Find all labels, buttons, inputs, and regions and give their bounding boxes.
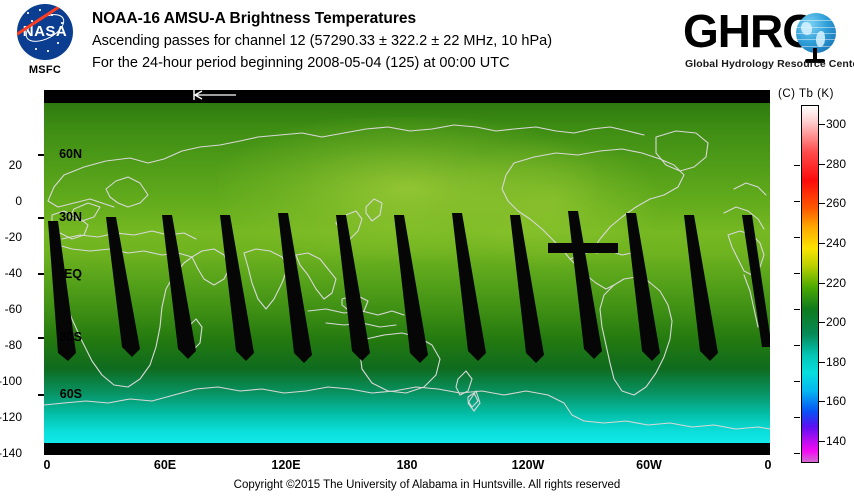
cb-c--80: -80 (5, 338, 22, 352)
cb-k-280: 280 (826, 157, 846, 171)
ghrc-tagline: Global Hydrology Resource Center (685, 58, 854, 70)
cb-k-300: 300 (826, 117, 846, 131)
map-plot-area (44, 90, 770, 455)
colorbar-gradient (801, 105, 819, 463)
cb-k-260: 260 (826, 196, 846, 210)
nasa-meatball-icon: NASA (17, 4, 73, 60)
cb-c--100: -100 (0, 374, 22, 388)
subtitle-period: For the 24-hour period beginning 2008-05… (92, 52, 672, 74)
cb-c--40: -40 (5, 266, 22, 280)
cb-c--140: -140 (0, 446, 22, 460)
globe-icon (796, 13, 836, 53)
cb-k-240: 240 (826, 236, 846, 250)
xtick-180: 180 (397, 458, 418, 472)
ytick-60N: 60N (59, 147, 82, 161)
page-title: NOAA-16 AMSU-A Brightness Temperatures (92, 8, 672, 30)
orbital-swath-gaps (44, 103, 770, 443)
cb-c--60: -60 (5, 302, 22, 316)
pass-direction-arrow (190, 89, 238, 101)
ytick-30N: 30N (59, 210, 82, 224)
nasa-logo: NASA MSFC (8, 4, 82, 82)
cb-k-220: 220 (826, 276, 846, 290)
cb-c-0: 0 (15, 194, 22, 208)
cb-c-20: 20 (9, 158, 22, 172)
ghrc-wordmark: GHRC (683, 8, 814, 54)
xtick-120E: 120E (271, 458, 300, 472)
ytick-60S: 60S (60, 387, 82, 401)
xtick-120W: 120W (512, 458, 545, 472)
msfc-label: MSFC (8, 64, 82, 76)
xtick-60W: 60W (636, 458, 662, 472)
xtick-0E: 0 (44, 458, 51, 472)
copyright-notice: Copyright ©2015 The University of Alabam… (0, 479, 854, 491)
colorbar-header: (C) Tb (K) (778, 88, 834, 100)
subtitle-channel: Ascending passes for channel 12 (57290.3… (92, 30, 672, 52)
xtick-60E: 60E (154, 458, 176, 472)
ytick-30S: 30S (60, 330, 82, 344)
xtick-0W: 0 (765, 458, 772, 472)
cb-c--120: -120 (0, 410, 22, 424)
cb-k-180: 180 (826, 355, 846, 369)
cb-k-140: 140 (826, 434, 846, 448)
ghrc-logo: GHRC Global Hydrology Resource Center (683, 8, 843, 74)
cb-k-160: 160 (826, 394, 846, 408)
cb-c--20: -20 (5, 230, 22, 244)
title-block: NOAA-16 AMSU-A Brightness Temperatures A… (92, 8, 672, 74)
map-canvas (44, 103, 770, 443)
ytick-EQ: EQ (64, 267, 82, 281)
map-frame (44, 90, 770, 455)
cb-k-200: 200 (826, 315, 846, 329)
page-header: NASA MSFC NOAA-16 AMSU-A Brightness Temp… (0, 0, 854, 88)
